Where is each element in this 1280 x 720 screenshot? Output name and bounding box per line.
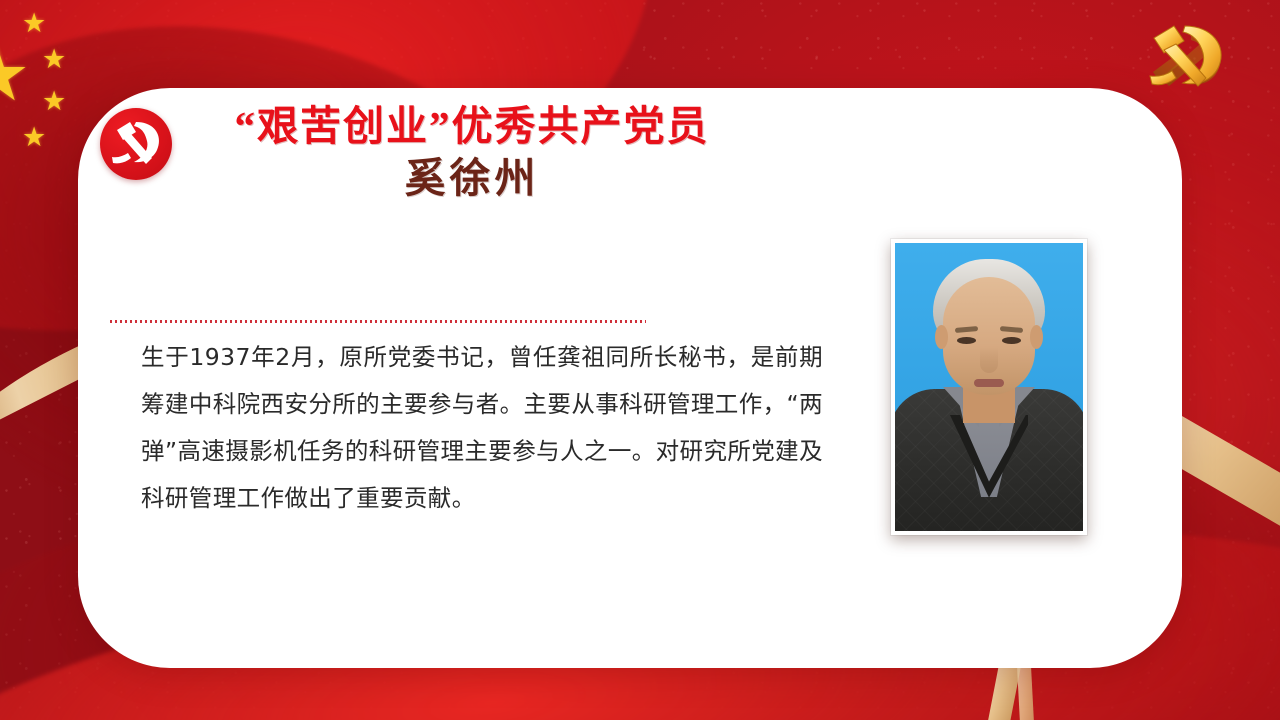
portrait-frame	[891, 239, 1087, 535]
portrait-face	[943, 277, 1035, 395]
header-block: “艰苦创业”优秀共产党员 奚徐州	[20, 102, 780, 205]
slide-root: ★ ★ ★ ★ ★	[0, 0, 1280, 720]
party-emblem-gold-icon	[1130, 16, 1242, 100]
portrait-eye-left	[957, 337, 976, 344]
biography-text: 生于1937年2月，原所党委书记，曾任龚祖同所长秘书，是前期筹建中科院西安分所的…	[141, 334, 823, 522]
portrait-ear-left	[935, 325, 948, 349]
portrait-nose	[980, 347, 998, 373]
party-emblem-circle-icon	[100, 108, 172, 180]
person-name: 奚徐州	[192, 152, 752, 204]
portrait-photo	[895, 243, 1083, 531]
portrait-mouth	[974, 379, 1004, 387]
title-wrap: “艰苦创业”优秀共产党员 奚徐州	[192, 102, 752, 205]
biography-paragraph: 生于1937年2月，原所党委书记，曾任龚祖同所长秘书，是前期筹建中科院西安分所的…	[141, 334, 823, 522]
page-title: “艰苦创业”优秀共产党员	[192, 102, 752, 150]
dotted-divider	[110, 320, 646, 323]
portrait-ear-right	[1030, 325, 1043, 349]
portrait-eye-right	[1002, 337, 1021, 344]
